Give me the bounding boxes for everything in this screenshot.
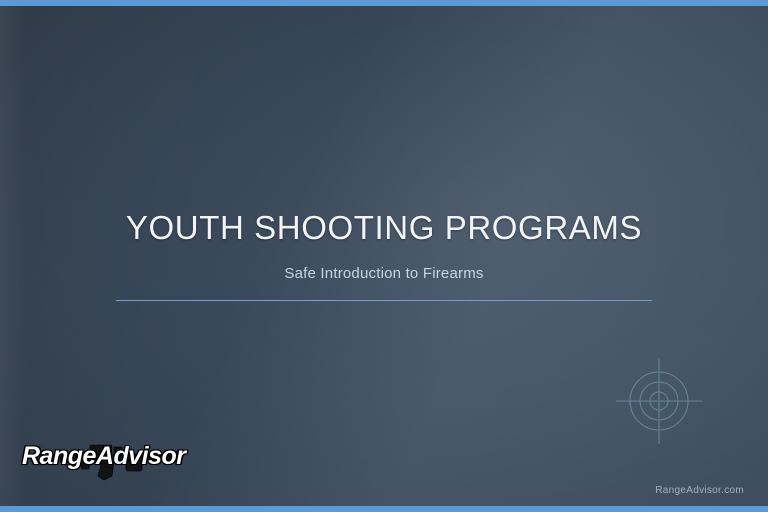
logo-wordmark: RangeAdvisor: [22, 442, 200, 471]
brand-logo: RangeAdvisor: [22, 430, 200, 492]
footer-website: RangeAdvisor.com: [655, 485, 744, 496]
slide-subtitle: Safe Introduction to Firearms: [0, 265, 768, 282]
top-accent-bar: [0, 0, 768, 6]
bottom-accent-bar: [0, 506, 768, 512]
title-divider-rule: [116, 300, 652, 301]
target-crosshair-icon: [614, 356, 704, 446]
slide-title: YOUTH SHOOTING PROGRAMS: [0, 208, 768, 248]
title-block: YOUTH SHOOTING PROGRAMS Safe Introductio…: [0, 208, 768, 301]
presentation-slide: YOUTH SHOOTING PROGRAMS Safe Introductio…: [0, 0, 768, 512]
